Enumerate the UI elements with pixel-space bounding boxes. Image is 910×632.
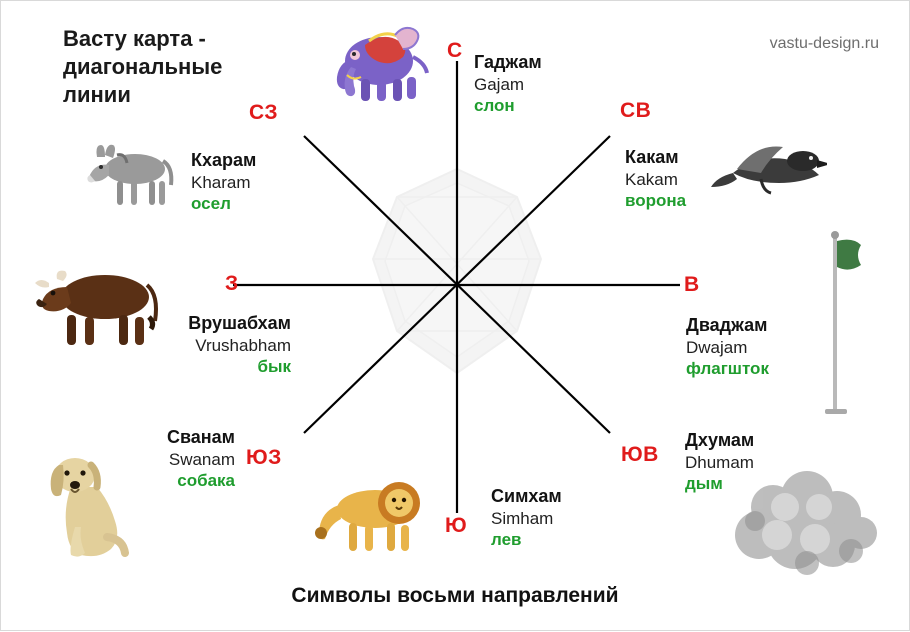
symbol-name-lat-nw: Kharam [191,172,256,193]
symbol-name-lat-n: Gajam [474,74,542,95]
symbol-name-ru-nw: Кхарам [191,149,256,172]
smoke-image [715,463,885,583]
direction-label-se: ЮВ [621,443,659,467]
symbol-group-ne: Какам Kakam ворона [625,146,686,211]
symbol-group-n: Гаджам Gajam слон [474,51,542,116]
symbol-meaning-ne: ворона [625,190,686,211]
watermark-text: vastu-design.ru [770,35,879,53]
flagpole-image [807,229,887,419]
symbol-name-ru-ne: Какам [625,146,686,169]
direction-label-n: С [447,39,463,63]
page-title: Васту карта - диагональные линии [63,25,293,109]
symbol-meaning-s: лев [491,529,562,550]
symbol-name-ru-se: Дхумам [685,429,754,452]
symbol-meaning-e: флагшток [686,358,769,379]
symbol-name-ru-e: Дваджам [686,314,769,337]
donkey-image [73,139,183,209]
vastu-diagram-page: Васту карта - диагональные линии vastu-d… [0,0,910,631]
symbol-meaning-nw: осел [191,193,256,214]
symbol-group-nw: Кхарам Kharam осел [191,149,256,214]
symbol-name-lat-s: Simham [491,508,562,529]
crow-image [707,127,827,207]
dog-image [37,441,137,561]
bull-image [27,263,167,349]
symbol-name-ru-n: Гаджам [474,51,542,74]
cross-lines [233,61,680,513]
direction-label-s: Ю [445,514,467,538]
symbol-group-s: Симхам Simham лев [491,485,562,550]
symbol-meaning-n: слон [474,95,542,116]
direction-label-e: В [684,273,700,297]
symbol-name-lat-ne: Kakam [625,169,686,190]
lion-image [303,471,433,561]
symbol-name-ru-s: Симхам [491,485,562,508]
mandala-watermark [373,169,541,373]
figure-caption: Символы восьми направлений [1,584,909,608]
direction-label-sw: ЮЗ [246,446,282,470]
symbol-name-lat-e: Dwajam [686,337,769,358]
symbol-group-e: Дваджам Dwajam флагшток [686,314,769,379]
direction-label-nw: СЗ [249,101,278,125]
elephant-image [321,15,441,103]
symbol-meaning-w: бык [131,356,291,377]
direction-label-ne: СВ [620,99,651,123]
direction-label-w: З [225,272,239,296]
